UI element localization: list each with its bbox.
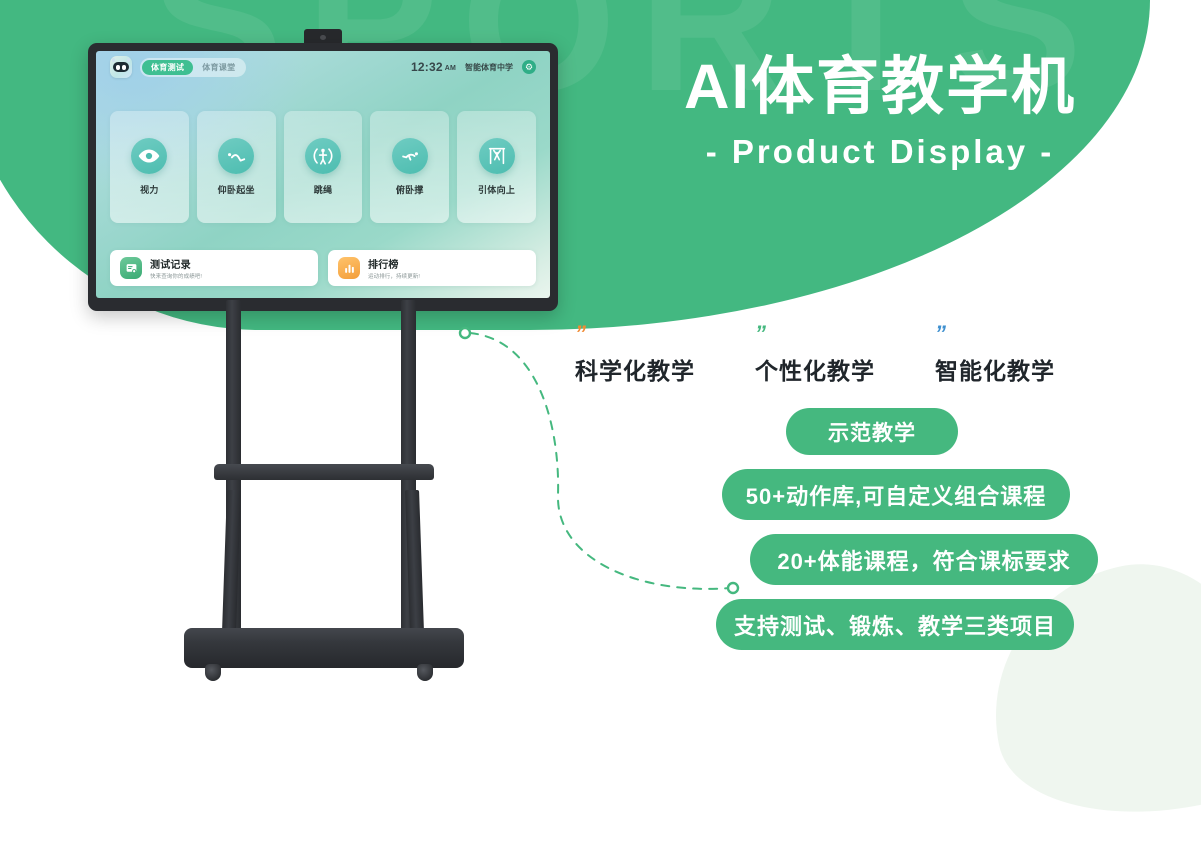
- ranking-icon: [338, 257, 360, 279]
- display-screen: 体育测试 体育课堂 12:32AM 智能体育中学 ⚙: [96, 51, 550, 298]
- display-bezel: 体育测试 体育课堂 12:32AM 智能体育中学 ⚙: [88, 43, 558, 311]
- screen-shortcut-row: 测试记录 快来查询你的成绩吧! 排: [110, 250, 536, 286]
- caster-wheel-left: [202, 662, 224, 684]
- webcam-icon: [304, 29, 342, 44]
- pill-fitness-courses[interactable]: 20+体能课程，符合课标要求: [750, 534, 1098, 585]
- gear-icon[interactable]: ⚙: [522, 60, 536, 74]
- app-card-situp[interactable]: 仰卧起坐: [197, 111, 276, 223]
- feature-personalized: ” 个性化教学: [755, 325, 935, 386]
- screen-tabs: 体育测试 体育课堂: [140, 58, 246, 77]
- quote-mark-icon: ”: [935, 325, 945, 343]
- pill-action-library[interactable]: 50+动作库,可自定义组合课程: [722, 469, 1070, 520]
- card-test-records[interactable]: 测试记录 快来查询你的成绩吧!: [110, 250, 318, 286]
- app-label: 视力: [140, 183, 159, 196]
- clock-time: 12:32: [411, 60, 443, 74]
- app-label: 仰卧起坐: [218, 183, 255, 196]
- quote-mark-icon: ”: [755, 325, 765, 343]
- clock-ampm: AM: [445, 65, 456, 72]
- app-grid: 视力 仰卧起坐: [110, 111, 536, 223]
- app-label: 俯卧撑: [396, 183, 424, 196]
- pill-three-categories[interactable]: 支持测试、锻炼、教学三类项目: [716, 599, 1074, 650]
- card-subtitle: 运动排行，持续更新!: [368, 272, 420, 280]
- feature-pill-list: 示范教学 50+动作库,可自定义组合课程 20+体能课程，符合课标要求 支持测试…: [600, 408, 1140, 664]
- app-card-jumprope[interactable]: 跳绳: [284, 111, 363, 223]
- situp-icon: [218, 138, 254, 174]
- status-bar-right: 12:32AM 智能体育中学 ⚙: [411, 60, 536, 74]
- quote-mark-icon: ”: [575, 325, 585, 343]
- robot-avatar-icon[interactable]: [110, 56, 132, 78]
- display-device: 体育测试 体育课堂 12:32AM 智能体育中学 ⚙: [88, 43, 558, 311]
- clock: 12:32AM: [411, 60, 456, 74]
- headline-block: AI体育教学机 - Product Display -: [600, 52, 1160, 171]
- school-name: 智能体育中学: [465, 62, 513, 73]
- pushup-icon: [392, 138, 428, 174]
- stand-shelf: [214, 464, 434, 480]
- caster-wheel-right: [414, 662, 436, 684]
- card-title: 排行榜: [368, 256, 420, 271]
- card-leaderboard[interactable]: 排行榜 运动排行，持续更新!: [328, 250, 536, 286]
- pullup-icon: [479, 138, 515, 174]
- eye-icon: [131, 138, 167, 174]
- app-card-pushup[interactable]: 俯卧撑: [370, 111, 449, 223]
- feature-intelligent: ” 智能化教学: [935, 325, 1115, 386]
- page-subtitle: - Product Display -: [600, 133, 1160, 171]
- feature-heading-row: ” 科学化教学 ” 个性化教学 ” 智能化教学: [575, 325, 1115, 386]
- card-text: 测试记录 快来查询你的成绩吧!: [150, 256, 202, 280]
- card-title: 测试记录: [150, 256, 202, 271]
- feature-title: 个性化教学: [755, 352, 935, 386]
- app-label: 引体向上: [478, 183, 515, 196]
- feature-scientific: ” 科学化教学: [575, 325, 755, 386]
- feature-title: 科学化教学: [575, 352, 755, 386]
- app-card-vision[interactable]: 视力: [110, 111, 189, 223]
- tab-sports-test[interactable]: 体育测试: [142, 60, 193, 75]
- app-card-pullup[interactable]: 引体向上: [457, 111, 536, 223]
- page-title: AI体育教学机: [600, 52, 1160, 123]
- card-subtitle: 快来查询你的成绩吧!: [150, 272, 202, 280]
- screen-status-bar: 体育测试 体育课堂 12:32AM 智能体育中学 ⚙: [96, 51, 550, 83]
- poster-canvas: SPORTS AI体育教学机 - Product Display - 体育测试 …: [0, 0, 1201, 738]
- feature-title: 智能化教学: [935, 352, 1115, 386]
- record-icon: [120, 257, 142, 279]
- pill-demo-teaching[interactable]: 示范教学: [786, 408, 958, 455]
- card-text: 排行榜 运动排行，持续更新!: [368, 256, 420, 280]
- jumprope-icon: [305, 138, 341, 174]
- tab-sports-class[interactable]: 体育课堂: [193, 60, 244, 75]
- app-label: 跳绳: [314, 183, 333, 196]
